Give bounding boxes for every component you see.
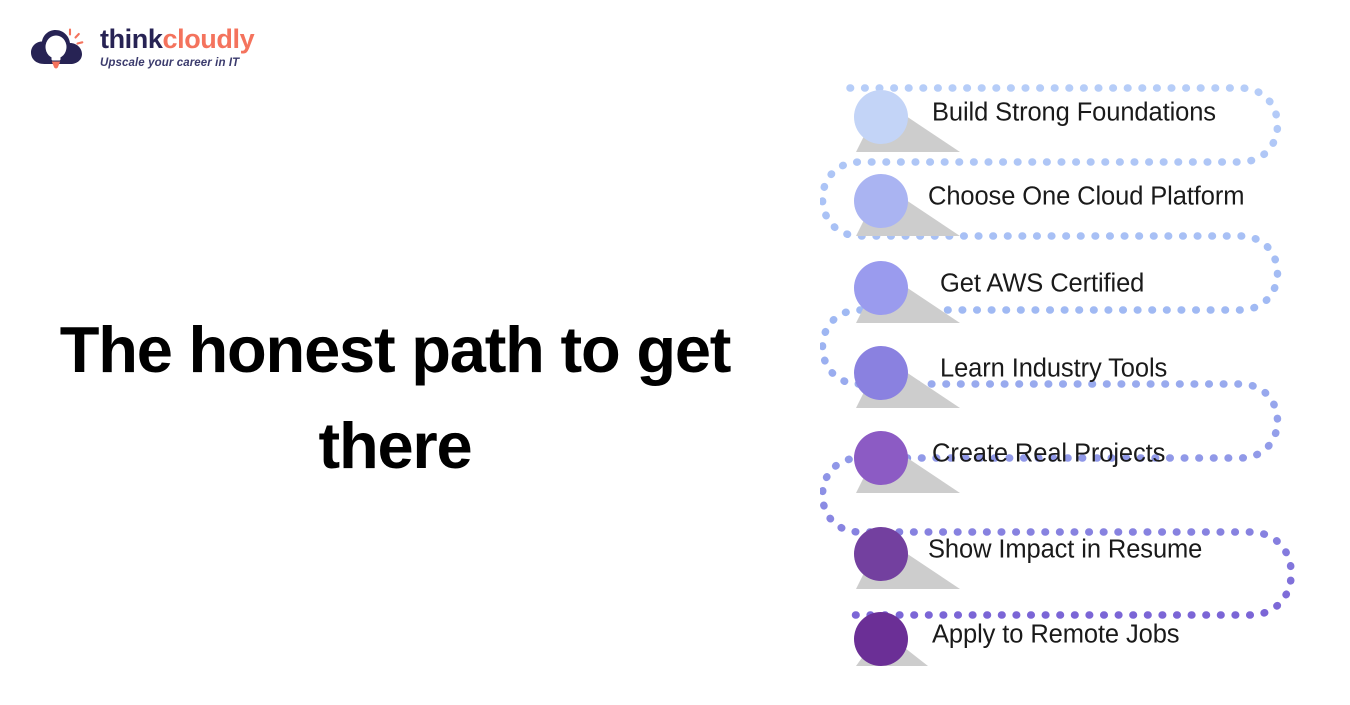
brand-name-think: think [100, 24, 163, 54]
step-label-1: Build Strong Foundations [932, 99, 1216, 128]
step-marker-3 [854, 261, 908, 315]
step-label-7: Apply to Remote Jobs [932, 621, 1179, 650]
step-label-6: Show Impact in Resume [928, 536, 1202, 565]
roadmap-container: Build Strong Foundations Choose One Clou… [820, 70, 1350, 680]
brand-name: thinkcloudly [100, 26, 254, 53]
step-marker-4 [854, 346, 908, 400]
step-label-2: Choose One Cloud Platform [928, 183, 1244, 212]
step-marker-6 [854, 527, 908, 581]
page-title: The honest path to get there [36, 302, 754, 494]
brand-wordmark: thinkcloudly Upscale your career in IT [100, 26, 254, 70]
step-label-3: Get AWS Certified [940, 270, 1144, 299]
step-marker-1 [854, 90, 908, 144]
step-label-4: Learn Industry Tools [940, 355, 1167, 384]
step-label-5: Create Real Projects [932, 440, 1165, 469]
brand-name-cloudly: cloudly [163, 24, 255, 54]
step-marker-7 [854, 612, 908, 666]
brand-tagline: Upscale your career in IT [100, 58, 254, 70]
step-marker-5 [854, 431, 908, 485]
step-marker-2 [854, 174, 908, 228]
cloud-lightbulb-icon [30, 24, 90, 72]
brand-logo: thinkcloudly Upscale your career in IT [30, 24, 254, 72]
